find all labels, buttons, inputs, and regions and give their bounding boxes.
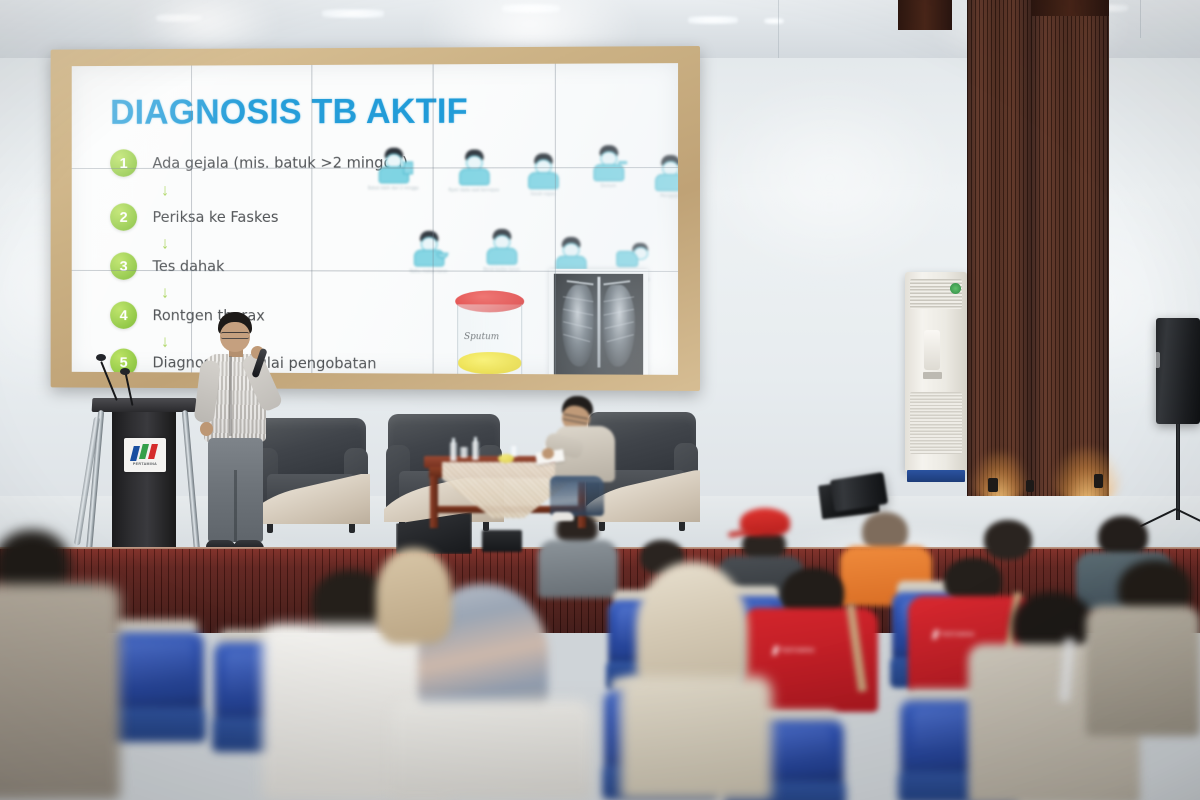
eyeglasses-icon bbox=[221, 332, 249, 339]
figure-caption: Menggigil bbox=[644, 193, 678, 198]
person-short-of-breath-icon: Sesak napas bbox=[523, 153, 563, 199]
video-wall-seam bbox=[311, 65, 312, 373]
spine-shadow bbox=[597, 277, 600, 368]
audience-member-mid-row bbox=[984, 520, 1032, 560]
audience-member-hijab-tan bbox=[376, 548, 452, 644]
pertamina-logo-marks bbox=[130, 444, 160, 461]
figure-caption: Nyeri dada saat bernapas bbox=[448, 187, 499, 192]
uplight-fixture bbox=[988, 478, 998, 492]
figure-body bbox=[655, 174, 678, 191]
slide-step-row: 3 Tes dahak bbox=[110, 252, 224, 280]
armchair-leg bbox=[599, 522, 605, 531]
water-bottle bbox=[450, 442, 457, 461]
moderator-trousers bbox=[550, 476, 604, 516]
sputum-label: Sputum bbox=[464, 332, 499, 342]
wood-panel-header bbox=[1031, 0, 1109, 16]
figure-body bbox=[459, 168, 490, 185]
moderator-shoe bbox=[552, 512, 574, 521]
ceiling-light bbox=[322, 9, 384, 18]
person-coughing-icon: Batuk lebih dari 2 minggu bbox=[374, 148, 413, 194]
podium-lectern-top bbox=[92, 398, 197, 412]
figure-caption: Sesak napas bbox=[517, 191, 568, 196]
wood-acoustic-panel bbox=[1031, 0, 1109, 496]
step-label: Periksa ke Faskes bbox=[152, 208, 278, 226]
slide-title: DIAGNOSIS TB AKTIF bbox=[110, 92, 468, 133]
armchair-leg bbox=[679, 522, 685, 531]
podium bbox=[112, 408, 176, 556]
ac-air-vent bbox=[924, 330, 940, 370]
drinking-glass bbox=[460, 447, 468, 458]
chest-xray-image bbox=[549, 269, 648, 375]
audience-torso-grey bbox=[538, 540, 618, 598]
step-label: Tes dahak bbox=[152, 257, 224, 275]
presenter-shirt-placket bbox=[229, 356, 232, 436]
ceiling-light bbox=[764, 18, 784, 24]
video-wall: DIAGNOSIS TB AKTIF 1 Ada gejala (mis. ba… bbox=[51, 46, 700, 391]
pertamina-wordmark: PERTAMINA bbox=[133, 462, 157, 466]
fruit-plate bbox=[498, 454, 514, 463]
equipment-case bbox=[482, 530, 522, 552]
pa-speaker bbox=[1156, 318, 1200, 424]
audience-torso-light bbox=[392, 700, 592, 800]
step-number-badge: 2 bbox=[110, 203, 137, 230]
slide-step-row: 2 Periksa ke Faskes bbox=[110, 203, 278, 231]
ceiling-seam bbox=[1140, 0, 1141, 38]
wall-highlight bbox=[700, 78, 960, 278]
armchair-leg bbox=[349, 524, 355, 533]
presentation-slide: DIAGNOSIS TB AKTIF 1 Ada gejala (mis. ba… bbox=[72, 63, 678, 375]
pertamina-wordmark: PERTAMINA bbox=[781, 648, 815, 654]
table-leg bbox=[430, 476, 438, 528]
speaker-stand-pole bbox=[1176, 424, 1180, 520]
podium-microphone-head bbox=[120, 368, 130, 375]
logo-chevron-red bbox=[148, 444, 158, 459]
person-weight-loss-icon: Berat badan turun bbox=[482, 229, 521, 275]
ac-base bbox=[907, 470, 965, 482]
auditorium-chair bbox=[106, 632, 204, 742]
uplight-fixture bbox=[1094, 474, 1103, 488]
sputum-container-icon: Sputum bbox=[454, 290, 527, 374]
person-chills-icon: Menggigil bbox=[650, 155, 678, 201]
screenshot-root: DIAGNOSIS TB AKTIF 1 Ada gejala (mis. ba… bbox=[0, 0, 1200, 800]
ac-label bbox=[923, 372, 942, 379]
audience-torso-beige bbox=[1086, 606, 1200, 736]
pertamina-wordmark: PERTAMINA bbox=[941, 632, 975, 638]
audience-torso-foreground-left bbox=[0, 584, 120, 800]
video-wall-seam bbox=[555, 64, 556, 375]
ceiling-light bbox=[688, 16, 738, 24]
thermometer-icon bbox=[618, 161, 627, 164]
presenter-with-microphone bbox=[196, 312, 288, 556]
xray-film bbox=[554, 274, 643, 375]
step-number-badge: 4 bbox=[110, 301, 137, 329]
step-number-badge: 3 bbox=[110, 252, 137, 280]
presenter-trouser-seam bbox=[234, 470, 237, 542]
ceiling-seam bbox=[778, 0, 779, 60]
logo-chevron-blue bbox=[130, 446, 140, 461]
presenter-hand-right bbox=[200, 422, 213, 436]
water-bottle bbox=[472, 441, 479, 460]
step-arrow-icon: ↓ bbox=[160, 333, 170, 350]
sputum-sample-fill bbox=[458, 352, 521, 374]
logo-chevron-green bbox=[139, 444, 149, 459]
wood-panel-header bbox=[898, 0, 952, 30]
ac-lower-grille bbox=[910, 392, 962, 454]
step-number-badge: 1 bbox=[110, 149, 137, 177]
slide-step-row: 1 Ada gejala (mis. batuk >2 minggu) bbox=[110, 149, 408, 177]
logo-chevron-white bbox=[772, 646, 779, 655]
audience-torso-cream bbox=[620, 676, 772, 800]
step-arrow-icon: ↓ bbox=[160, 284, 170, 301]
podium-microphone-head bbox=[96, 354, 106, 361]
figure-body bbox=[487, 248, 518, 265]
bed-icon bbox=[616, 251, 638, 267]
video-wall-display: DIAGNOSIS TB AKTIF 1 Ada gejala (mis. ba… bbox=[72, 63, 678, 375]
step-arrow-icon: ↓ bbox=[160, 235, 170, 252]
figure-caption: Demam bbox=[583, 183, 635, 188]
video-wall-seam bbox=[433, 64, 434, 373]
person-chest-pain-icon: Nyeri dada saat bernapas bbox=[454, 149, 493, 195]
figure-caption: Batuk lebih dari 2 minggu bbox=[368, 185, 419, 190]
seated-moderator bbox=[548, 396, 628, 522]
video-wall-seam bbox=[191, 66, 192, 373]
moderator-hand bbox=[542, 448, 554, 459]
speaker-handle bbox=[1155, 352, 1160, 368]
wood-acoustic-panel bbox=[967, 0, 1031, 496]
chair-backrest bbox=[106, 632, 204, 711]
pertamina-logo: PERTAMINA bbox=[772, 646, 815, 655]
pertamina-logo: PERTAMINA bbox=[124, 438, 166, 472]
floor-standing-air-conditioner bbox=[905, 272, 967, 472]
uplight-fixture bbox=[1026, 480, 1034, 492]
step-arrow-icon: ↓ bbox=[160, 182, 170, 199]
pertamina-logo: PERTAMINA bbox=[932, 630, 975, 639]
ac-brand-badge bbox=[950, 283, 961, 294]
logo-chevron-white bbox=[932, 630, 939, 639]
